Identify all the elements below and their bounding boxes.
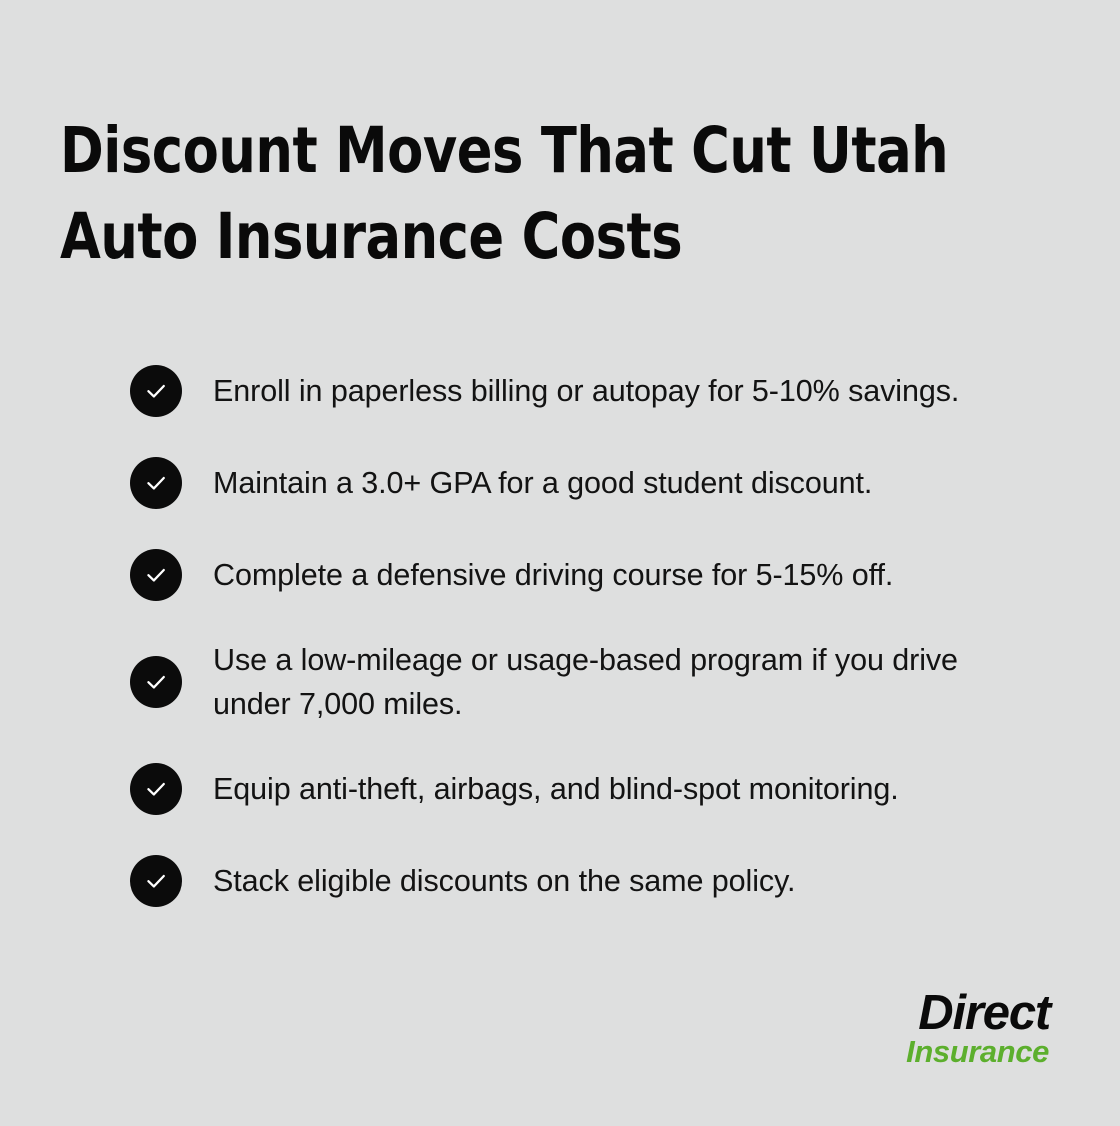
page-title: Discount Moves That Cut Utah Auto Insura… — [60, 108, 981, 280]
logo-primary-text: Direct — [906, 988, 1050, 1038]
brand-logo: Direct Insurance — [906, 988, 1050, 1068]
list-item: Stack eligible discounts on the same pol… — [130, 852, 1050, 910]
list-item-label: Stack eligible discounts on the same pol… — [213, 859, 795, 903]
list-item-label: Complete a defensive driving course for … — [213, 553, 893, 597]
title-block: Discount Moves That Cut Utah Auto Insura… — [60, 108, 1050, 280]
list-item: Enroll in paperless billing or autopay f… — [130, 362, 1050, 420]
infographic-poster: Discount Moves That Cut Utah Auto Insura… — [0, 0, 1120, 1126]
logo-secondary-text: Insurance — [906, 1036, 1049, 1068]
list-item-label: Enroll in paperless billing or autopay f… — [213, 369, 959, 413]
discount-tips-list: Enroll in paperless billing or autopay f… — [130, 362, 1050, 910]
list-item-label: Equip anti-theft, airbags, and blind-spo… — [213, 767, 899, 811]
check-circle-icon — [130, 763, 182, 815]
list-item-label: Use a low-mileage or usage-based program… — [213, 638, 1037, 726]
list-item: Equip anti-theft, airbags, and blind-spo… — [130, 760, 1050, 818]
list-item-label: Maintain a 3.0+ GPA for a good student d… — [213, 461, 872, 505]
check-circle-icon — [130, 457, 182, 509]
list-item: Use a low-mileage or usage-based program… — [130, 638, 1050, 726]
check-circle-icon — [130, 656, 182, 708]
list-item: Maintain a 3.0+ GPA for a good student d… — [130, 454, 1050, 512]
check-circle-icon — [130, 365, 182, 417]
check-circle-icon — [130, 549, 182, 601]
list-item: Complete a defensive driving course for … — [130, 546, 1050, 604]
check-circle-icon — [130, 855, 182, 907]
